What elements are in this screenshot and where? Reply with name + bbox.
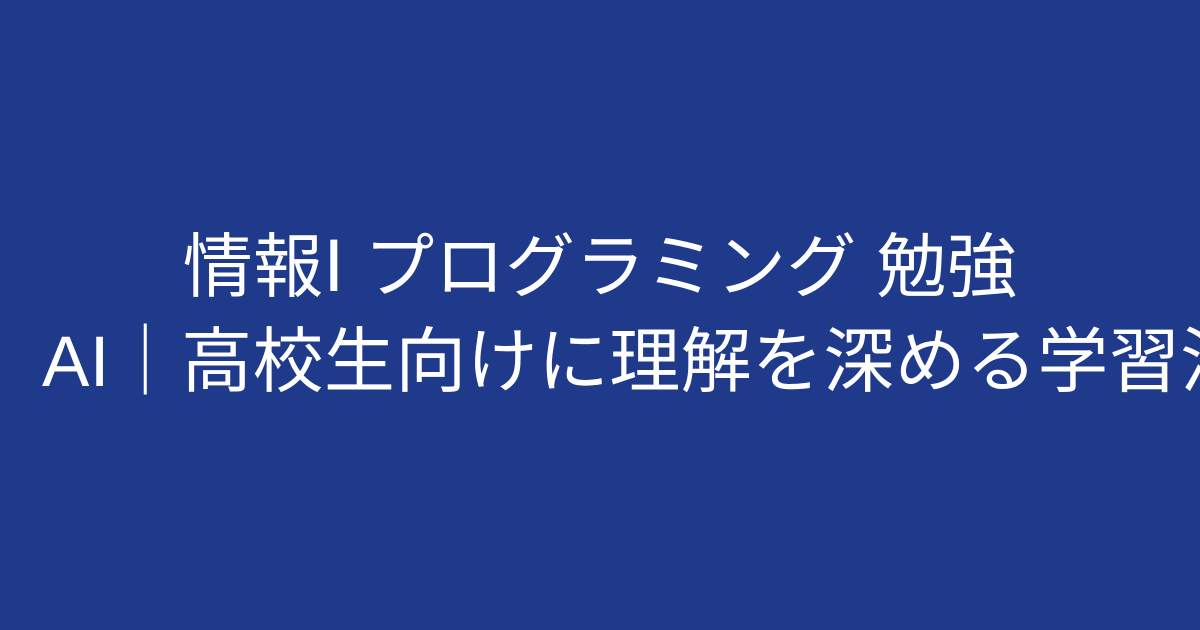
title-line-2: AI｜高校生向けに理解を深める学習法 (42, 315, 1158, 410)
page-title: 情報Ⅰ プログラミング 勉強 AI｜高校生向けに理解を深める学習法 (30, 220, 1170, 410)
og-card: 情報Ⅰ プログラミング 勉強 AI｜高校生向けに理解を深める学習法 (0, 0, 1200, 630)
title-line-1: 情報Ⅰ プログラミング 勉強 (42, 220, 1158, 315)
